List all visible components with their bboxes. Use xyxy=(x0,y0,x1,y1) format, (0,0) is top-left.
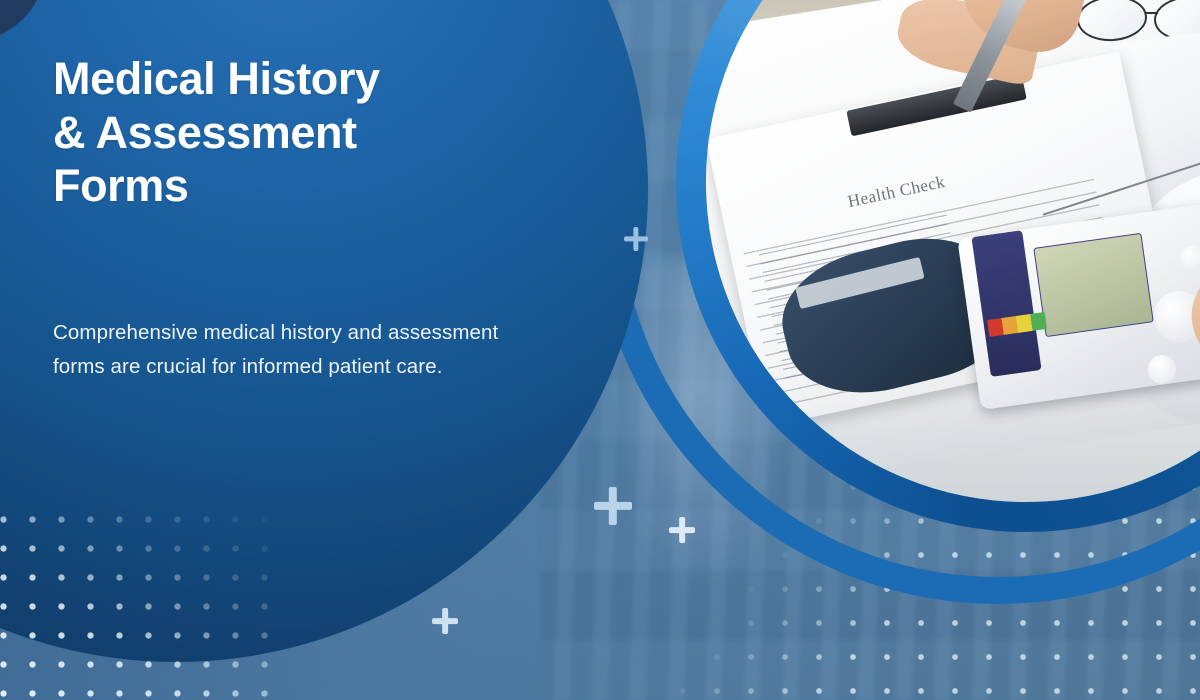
dot-grid-bottom-left xyxy=(0,505,290,700)
headline-line-3: Forms xyxy=(53,159,573,213)
plus-mark-2 xyxy=(594,487,632,525)
plus-mark-4 xyxy=(432,608,458,634)
banner-copy: Medical History & Assessment Forms Compr… xyxy=(53,52,573,385)
page-title: Medical History & Assessment Forms xyxy=(53,52,573,213)
medical-banner: Health Check xyxy=(0,0,1200,700)
plus-mark-3 xyxy=(669,517,695,543)
headline-line-2: & Assessment xyxy=(53,106,573,160)
page-subtitle: Comprehensive medical history and assess… xyxy=(53,316,523,385)
headline-line-1: Medical History xyxy=(53,52,573,106)
plus-mark-1 xyxy=(624,227,648,251)
